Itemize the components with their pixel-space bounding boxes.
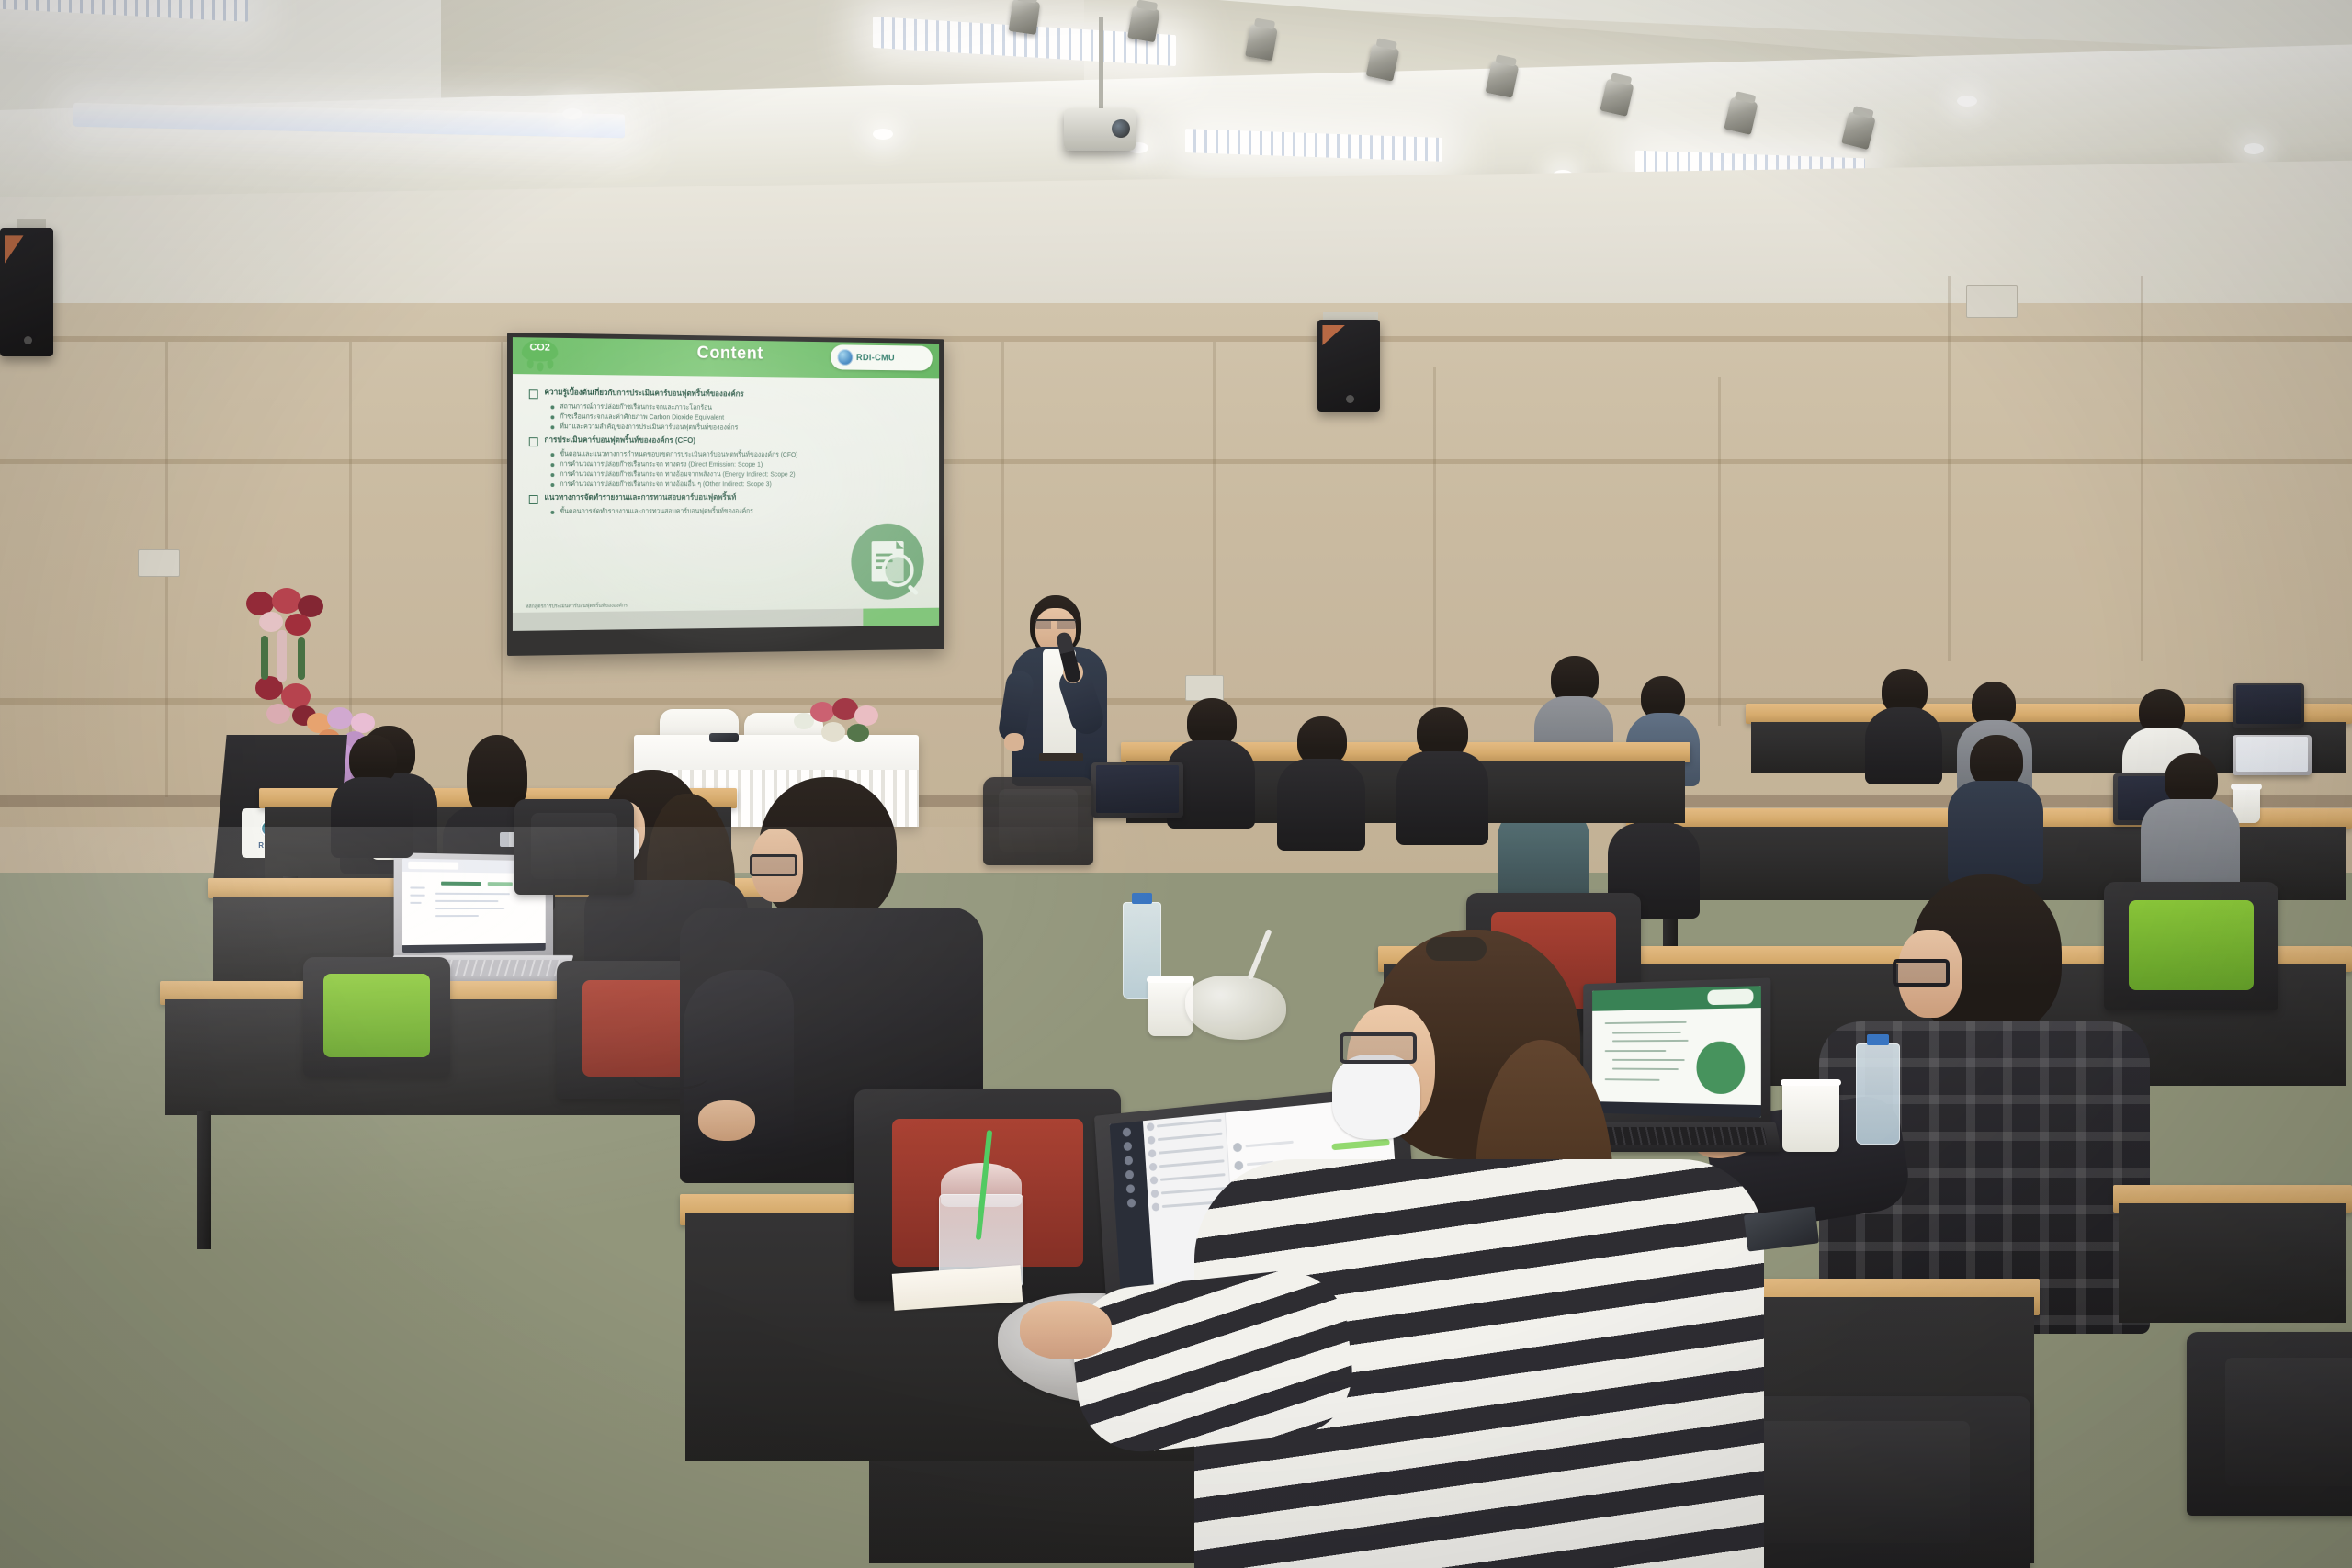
wall-speaker xyxy=(1317,320,1380,412)
slide-org-logo-label: RDI-CMU xyxy=(856,353,895,363)
slide-surface: CO2 Content RDI-CMU ความรู้เบื้องต้นเกี่… xyxy=(513,337,939,631)
recessed-downlight xyxy=(873,129,893,140)
slide-bullet-text: ที่มาและความสำคัญของการประเมินคาร์บอนฟุต… xyxy=(560,422,738,431)
slide-footnote: หลักสูตรการประเมินคาร์บอนฟุตพริ้นท์ขององ… xyxy=(526,603,628,611)
attendee xyxy=(1865,669,1942,781)
slide-bullet: การคำนวณการปล่อยก๊าซเรือนกระจก ทางอ้อมจา… xyxy=(550,469,927,479)
track-spotlight xyxy=(1009,0,1041,35)
dot-bullet-icon xyxy=(550,453,554,457)
dot-bullet-icon xyxy=(550,425,554,429)
eyeglasses-icon xyxy=(1035,619,1076,629)
slide-bullet: ขั้นตอนและแนวทางการกำหนดขอบเขตการประเมิน… xyxy=(550,449,927,458)
recessed-downlight xyxy=(2244,143,2264,154)
chair xyxy=(2187,1332,2352,1516)
attendee xyxy=(2141,753,2240,900)
laptop xyxy=(2233,683,2304,728)
dot-bullet-icon xyxy=(550,473,554,477)
attendee xyxy=(1277,716,1365,849)
laptop-lid xyxy=(2233,683,2304,728)
wall-panel-seam xyxy=(2141,276,2143,661)
dot-bullet-icon xyxy=(550,510,554,513)
attendee-torso xyxy=(1277,759,1365,851)
wall-panel-seam xyxy=(501,342,503,797)
slide-bullet: ก๊าซเรือนกระจกและค่าศักยภาพ Carbon Dioxi… xyxy=(550,412,927,423)
desk-panel xyxy=(2119,1203,2346,1323)
checkbox-bullet-icon xyxy=(529,389,538,399)
wall-outlet xyxy=(138,549,180,577)
dot-bullet-icon xyxy=(550,483,554,487)
globe-icon xyxy=(838,349,854,366)
projection-screen: CO2 Content RDI-CMU ความรู้เบื้องต้นเกี่… xyxy=(507,333,944,656)
track-spotlight xyxy=(1245,24,1278,62)
dot-bullet-icon xyxy=(550,405,554,409)
laptop-screen xyxy=(2236,685,2301,723)
bottle-cap xyxy=(1867,1034,1890,1045)
floor-reflection xyxy=(0,827,1286,1286)
laptop xyxy=(2233,735,2312,775)
recessed-downlight xyxy=(562,108,582,119)
wall-outlet xyxy=(1966,285,2018,318)
chair-back xyxy=(2187,1332,2352,1516)
slide-bullet: ที่มาและความสำคัญของการประเมินคาร์บอนฟุต… xyxy=(550,422,927,432)
projector-lens xyxy=(1112,119,1130,138)
slide-heading-text: การประเมินคาร์บอนฟุตพริ้นท์ขององค์กร (CF… xyxy=(545,434,695,445)
attendee-arm xyxy=(1067,1265,1358,1458)
co2-drop-icon xyxy=(537,362,544,371)
attendee-torso xyxy=(1865,707,1942,784)
track-spotlight xyxy=(1127,6,1160,43)
hair-tie-icon xyxy=(1426,937,1487,961)
ceiling-projector xyxy=(1064,108,1136,151)
slide-bullet: การคำนวณการปล่อยก๊าซเรือนกระจก ทางตรง (D… xyxy=(550,459,927,468)
attendee xyxy=(1396,707,1488,843)
chair-cushion xyxy=(2225,1358,2352,1486)
presenter xyxy=(997,595,1125,788)
slide-heading-text: ความรู้เบื้องต้นเกี่ยวกับการประเมินคาร์บ… xyxy=(545,387,744,398)
slide-bullet: สถานการณ์การปล่อยก๊าซเรือนกระจกและภาวะโล… xyxy=(550,401,927,412)
wall-trim-band xyxy=(0,336,2352,342)
laptop-screen xyxy=(1096,765,1179,813)
speaker-driver xyxy=(24,336,32,344)
checkbox-bullet-icon xyxy=(529,437,538,446)
lecture-room-photo: CO2 Content RDI-CMU ความรู้เบื้องต้นเกี่… xyxy=(0,0,2352,1568)
laptop-lid xyxy=(2233,735,2312,775)
document-magnifier-icon xyxy=(851,524,923,600)
presenter-left-hand xyxy=(1004,733,1024,751)
laptop xyxy=(1091,762,1183,818)
attendee-torso xyxy=(1948,781,2043,884)
slide-bullet: การคำนวณการปล่อยก๊าซเรือนกระจก ทางอ้อมอื… xyxy=(550,479,927,488)
desk-edge-right xyxy=(2113,1185,2352,1332)
water-bottle xyxy=(1856,1043,1900,1145)
slide-bullet-text: การคำนวณการปล่อยก๊าซเรือนกระจก ทางตรง (D… xyxy=(560,459,763,468)
head-table-flowers xyxy=(790,698,891,753)
recessed-downlight xyxy=(1957,96,1977,107)
slide-bullet-text: ก๊าซเรือนกระจกและค่าศักยภาพ Carbon Dioxi… xyxy=(560,412,724,421)
dot-bullet-icon xyxy=(550,415,554,419)
slide-bullet-text: ขั้นตอนและแนวทางการกำหนดขอบเขตการประเมิน… xyxy=(560,449,797,458)
slide-bullet-text: การคำนวณการปล่อยก๊าซเรือนกระจก ทางอ้อมจา… xyxy=(560,469,795,478)
face-mask-icon xyxy=(1332,1055,1420,1139)
slide-bullet-text: ขั้นตอนการจัดทำรายงานและการทวนสอบคาร์บอน… xyxy=(560,507,753,515)
slide-bullet-text: สถานการณ์การปล่อยก๊าซเรือนกระจกและภาวะโล… xyxy=(560,402,712,412)
eyeglasses-icon xyxy=(1340,1032,1417,1064)
wall-panel-seam xyxy=(1433,367,1436,735)
paper-coffee-cup xyxy=(1782,1082,1839,1152)
attendee xyxy=(1948,735,2043,882)
document-shape xyxy=(872,541,904,582)
wall-speaker xyxy=(0,228,53,356)
eyeglasses-icon xyxy=(1893,959,1950,987)
slide-heading-text: แนวทางการจัดทำรายงานและการทวนสอบคาร์บอนฟ… xyxy=(545,492,737,502)
slide-bullet-text: การคำนวณการปล่อยก๊าซเรือนกระจก ทางอ้อมอื… xyxy=(560,479,771,488)
checkbox-bullet-icon xyxy=(529,495,538,504)
slide-section-heading: ความรู้เบื้องต้นเกี่ยวกับการประเมินคาร์บ… xyxy=(529,387,928,402)
attendee-torso xyxy=(1396,751,1488,845)
projector-mount-pole xyxy=(1099,17,1103,108)
presenter-belt xyxy=(1039,753,1083,761)
smartphone xyxy=(1744,1206,1819,1251)
slide-footer-bar xyxy=(513,608,939,631)
wall-panel-seam xyxy=(1948,276,1951,661)
wall-panel-seam xyxy=(1718,377,1721,726)
slide-section-heading: การประเมินคาร์บอนฟุตพริ้นท์ขององค์กร (CF… xyxy=(529,434,928,448)
slide-org-logo: RDI-CMU xyxy=(831,344,933,370)
microphone-on-table xyxy=(709,733,739,742)
wall-outlet xyxy=(1185,675,1224,701)
attendee-hand xyxy=(1020,1301,1112,1359)
dot-bullet-icon xyxy=(550,463,554,467)
magnifier-lens xyxy=(882,553,914,587)
laptop-screen xyxy=(2236,737,2307,772)
laptop-lid xyxy=(1091,762,1183,818)
slide-bullet: ขั้นตอนการจัดทำรายงานและการทวนสอบคาร์บอน… xyxy=(550,506,927,514)
speaker-driver xyxy=(1346,395,1354,403)
slide-section-heading: แนวทางการจัดทำรายงานและการทวนสอบคาร์บอนฟ… xyxy=(529,492,928,504)
wall-trim-band xyxy=(0,459,2352,464)
